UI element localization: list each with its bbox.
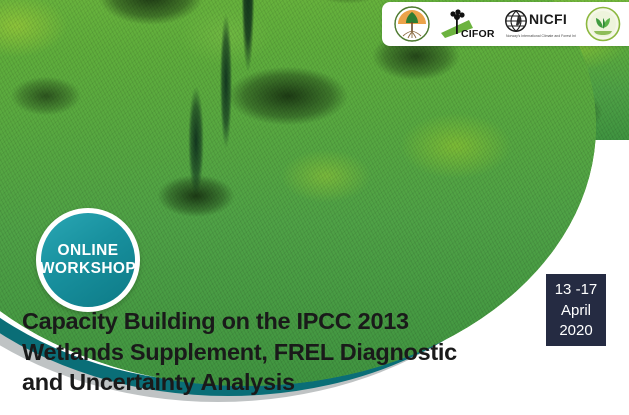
online-workshop-badge: ONLINE WORKSHOP — [36, 208, 140, 312]
date-badge-month: April — [561, 301, 591, 322]
cifor-icraf-seal-logo — [394, 6, 430, 42]
nicfi-logo: NICFI Norway's International Climate and… — [504, 6, 576, 42]
cifor-logo: CIFOR — [439, 7, 495, 41]
online-workshop-badge-line1: ONLINE — [58, 243, 119, 259]
date-badge-days: 13 -17 — [555, 280, 598, 301]
page-title-line-2: Wetlands Supplement, FREL Diagnostic — [22, 337, 562, 368]
page-title-line-1: Capacity Building on the IPCC 2013 — [22, 306, 562, 337]
date-badge-year: 2020 — [559, 321, 592, 342]
page-title: Capacity Building on the IPCC 2013 Wetla… — [22, 306, 562, 398]
svg-text:CIFOR: CIFOR — [461, 28, 495, 40]
leaf-circle-logo — [585, 6, 621, 42]
page-title-line-3: and Uncertainty Analysis — [22, 367, 562, 398]
svg-text:Norway's International Climate: Norway's International Climate and Fores… — [506, 34, 576, 38]
workshop-banner: CIFOR NICFI Norway's International Clima… — [0, 0, 629, 415]
logo-panel: CIFOR NICFI Norway's International Clima… — [382, 2, 629, 46]
svg-text:NICFI: NICFI — [529, 11, 567, 27]
online-workshop-badge-line2: WORKSHOP — [40, 261, 136, 277]
